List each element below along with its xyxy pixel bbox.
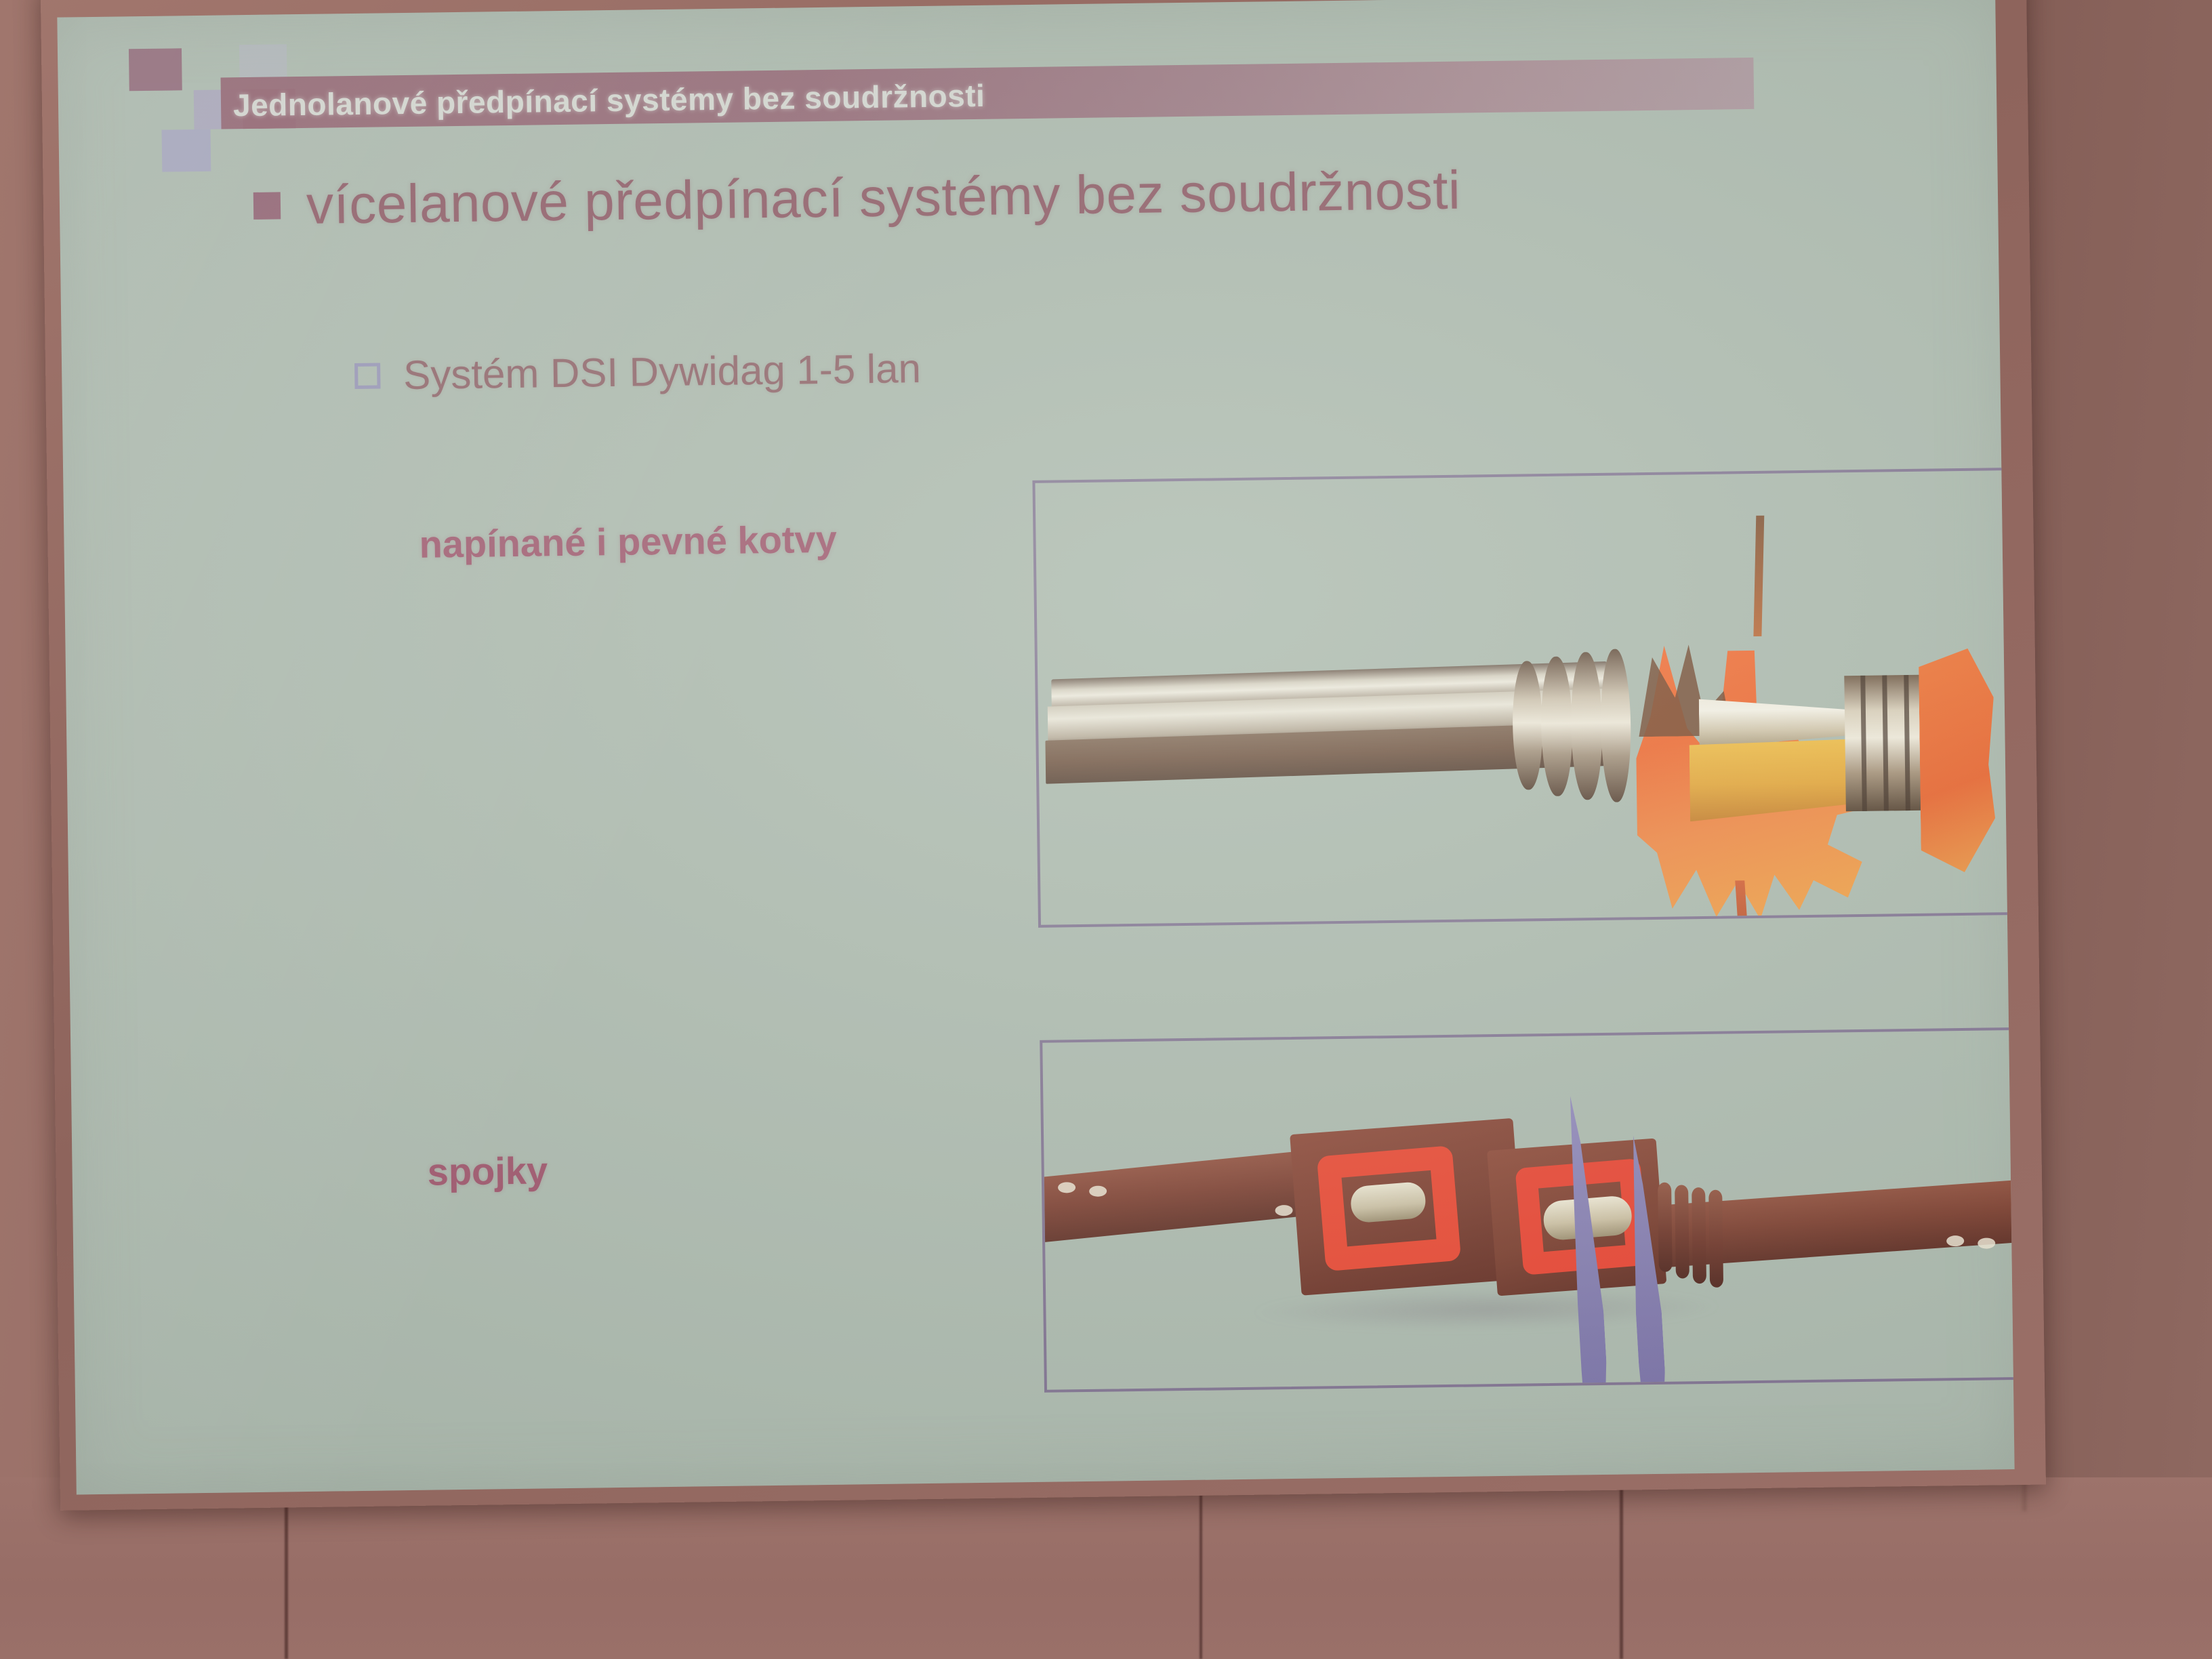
coupler-bellow: [1708, 1190, 1723, 1288]
wall-panel-line: [285, 1491, 288, 1659]
corrugation-ring: [1600, 649, 1632, 802]
anchor-spike-upper: [1753, 516, 1764, 636]
barrel-groove: [1904, 675, 1910, 811]
label-couplers: spojky: [427, 1148, 548, 1193]
page-title: vícelanové předpínací systémy bez soudrž…: [306, 159, 1460, 237]
barrel-groove: [1860, 676, 1867, 811]
figure-coupler: [1040, 1027, 2014, 1393]
heading-row: vícelanové předpínací systémy bez soudrž…: [253, 159, 1460, 237]
coupler-bellow: [1692, 1187, 1706, 1284]
figure-coupler-content: [1042, 1030, 2014, 1390]
coupler-bellow: [1675, 1185, 1689, 1278]
sub-bullet-row: Systém DSI Dywidag 1-5 lan: [354, 345, 921, 399]
wall-panel-line: [1200, 1484, 1202, 1659]
filled-square-bullet-icon: [253, 192, 281, 220]
barrel-groove: [1882, 675, 1889, 811]
label-anchors: napínané i pevné kotvy: [419, 517, 837, 567]
sub-bullet-label: Systém DSI Dywidag 1-5 lan: [403, 345, 921, 398]
anchor-tail-flange: [1919, 648, 1996, 872]
figure-anchorage-cutaway: [1032, 468, 2014, 928]
figure-anchorage-content: [1035, 470, 2011, 925]
tendon-left: [1040, 1149, 1332, 1243]
hollow-square-bullet-icon: [354, 363, 380, 388]
deco-square-icon: [162, 129, 211, 172]
coupler-bellow: [1658, 1183, 1673, 1272]
presentation-slide: Jednolanové předpínací systémy bez soudr…: [57, 0, 2014, 1494]
duct-hole: [1978, 1237, 1995, 1248]
coupler-core-left: [1349, 1181, 1427, 1224]
wall-panel-line: [1620, 1484, 1623, 1659]
projection-screen: Jednolanové předpínací systémy bez soudr…: [41, 0, 2053, 1511]
deco-square-icon: [129, 48, 182, 91]
